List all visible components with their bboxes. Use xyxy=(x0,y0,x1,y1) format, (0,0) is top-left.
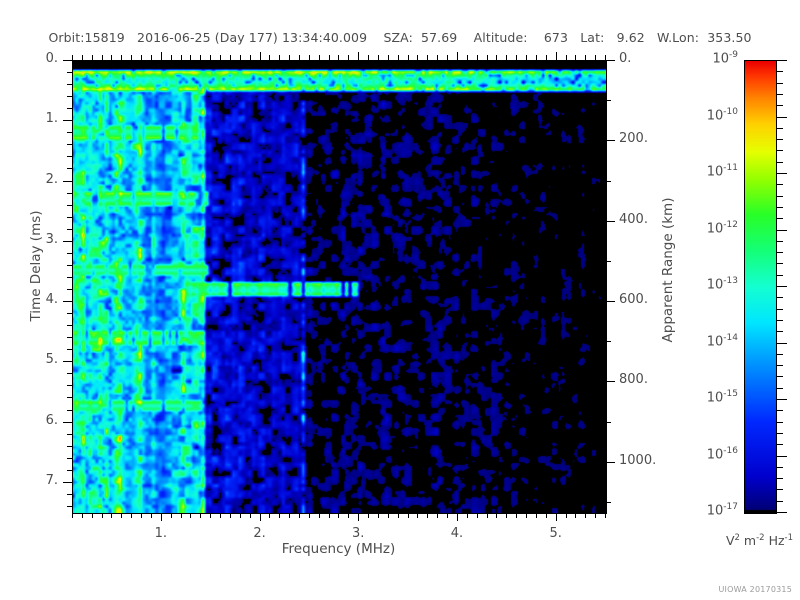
colorbar-gradient xyxy=(745,61,776,513)
y2-tick-label: 1000. xyxy=(619,453,679,468)
x-tick-label: 2. xyxy=(240,526,280,541)
tick-mark xyxy=(777,456,787,457)
tick-mark xyxy=(777,399,787,400)
spectrogram-plot-area xyxy=(72,60,607,514)
x-tick-label: 4. xyxy=(437,526,477,541)
tick-mark xyxy=(777,105,783,106)
tick-mark xyxy=(63,60,72,61)
tick-mark xyxy=(777,263,783,264)
tick-mark xyxy=(777,410,783,411)
tick-mark xyxy=(777,241,783,242)
tick-mark xyxy=(777,60,787,61)
y-tick-label: 5. xyxy=(14,352,58,367)
tick-mark xyxy=(63,181,72,182)
tick-mark xyxy=(777,139,783,140)
tick-mark xyxy=(777,297,783,298)
y-axis-title: Time Delay (ms) xyxy=(28,186,44,346)
tick-mark xyxy=(63,361,72,362)
tick-mark xyxy=(606,381,615,382)
colorbar-tick-label: 10-14 xyxy=(672,333,738,349)
tick-mark xyxy=(606,462,615,463)
tick-mark xyxy=(777,467,783,468)
tick-mark xyxy=(777,184,783,185)
tick-mark xyxy=(556,52,557,60)
tick-mark xyxy=(358,513,359,521)
tick-mark xyxy=(777,150,783,151)
tick-mark xyxy=(777,320,783,321)
tick-mark xyxy=(777,478,783,479)
tick-mark xyxy=(777,433,783,434)
tick-mark xyxy=(777,173,787,174)
metadata-header: Orbit:15819 2016-06-25 (Day 177) 13:34:4… xyxy=(0,30,800,45)
secondary-y-axis-title: Apparent Range (km) xyxy=(660,190,676,350)
tick-mark xyxy=(777,501,783,502)
tick-mark xyxy=(606,60,615,61)
tick-mark xyxy=(457,52,458,60)
y-tick-label: 6. xyxy=(14,413,58,428)
colorbar xyxy=(744,60,777,514)
tick-mark xyxy=(777,354,783,355)
tick-mark xyxy=(777,207,783,208)
colorbar-tick-label: 10-9 xyxy=(672,50,738,66)
tick-mark xyxy=(777,162,783,163)
colorbar-tick-label: 10-16 xyxy=(672,446,738,462)
tick-mark xyxy=(161,513,162,521)
tick-mark xyxy=(606,140,615,141)
colorbar-tick-label: 10-11 xyxy=(672,163,738,179)
tick-mark xyxy=(777,286,787,287)
x-axis-title: Frequency (MHz) xyxy=(72,541,605,557)
tick-mark xyxy=(777,309,783,310)
tick-mark xyxy=(777,512,787,513)
y2-tick-label: 0. xyxy=(619,51,679,66)
tick-mark xyxy=(777,331,783,332)
y2-tick-label: 200. xyxy=(619,131,679,146)
y-tick-label: 1. xyxy=(14,111,58,126)
tick-mark xyxy=(777,196,783,197)
tick-mark xyxy=(556,513,557,521)
tick-mark xyxy=(777,71,783,72)
colorbar-tick-label: 10-13 xyxy=(672,276,738,292)
colorbar-tick-label: 10-17 xyxy=(672,502,738,518)
tick-mark xyxy=(63,120,72,121)
colorbar-tick-label: 10-12 xyxy=(672,220,738,236)
tick-mark xyxy=(777,388,783,389)
y2-tick-label: 800. xyxy=(619,372,679,387)
tick-mark xyxy=(260,52,261,60)
tick-mark xyxy=(63,422,72,423)
tick-mark xyxy=(606,221,615,222)
y-tick-label: 7. xyxy=(14,473,58,488)
tick-mark xyxy=(777,365,783,366)
colorbar-tick-label: 10-15 xyxy=(672,389,738,405)
tick-mark xyxy=(358,52,359,60)
tick-mark xyxy=(260,513,261,521)
tick-mark xyxy=(63,241,72,242)
y-tick-label: 2. xyxy=(14,172,58,187)
x-tick-label: 5. xyxy=(536,526,576,541)
colorbar-unit-label: V2 m-2 Hz-1 xyxy=(672,533,800,548)
tick-mark xyxy=(777,444,783,445)
tick-mark xyxy=(777,83,783,84)
tick-mark xyxy=(63,482,72,483)
tick-mark xyxy=(63,301,72,302)
radargram-canvas xyxy=(73,61,606,513)
tick-mark xyxy=(161,52,162,60)
tick-mark xyxy=(777,422,783,423)
colorbar-tick-label: 10-10 xyxy=(672,107,738,123)
tick-mark xyxy=(777,218,783,219)
institution-watermark: UIOWA 20170315 xyxy=(718,585,792,594)
tick-mark xyxy=(606,301,615,302)
tick-mark xyxy=(777,489,783,490)
header-text: Orbit:15819 2016-06-25 (Day 177) 13:34:4… xyxy=(48,30,751,45)
x-tick-label: 3. xyxy=(338,526,378,541)
x-tick-label: 1. xyxy=(141,526,181,541)
y-tick-label: 0. xyxy=(14,51,58,66)
tick-mark xyxy=(777,128,783,129)
tick-mark xyxy=(457,513,458,521)
tick-mark xyxy=(777,275,783,276)
tick-mark xyxy=(777,230,787,231)
tick-mark xyxy=(777,117,787,118)
tick-mark xyxy=(777,94,783,95)
tick-mark xyxy=(777,343,787,344)
tick-mark xyxy=(777,252,783,253)
tick-mark xyxy=(777,376,783,377)
